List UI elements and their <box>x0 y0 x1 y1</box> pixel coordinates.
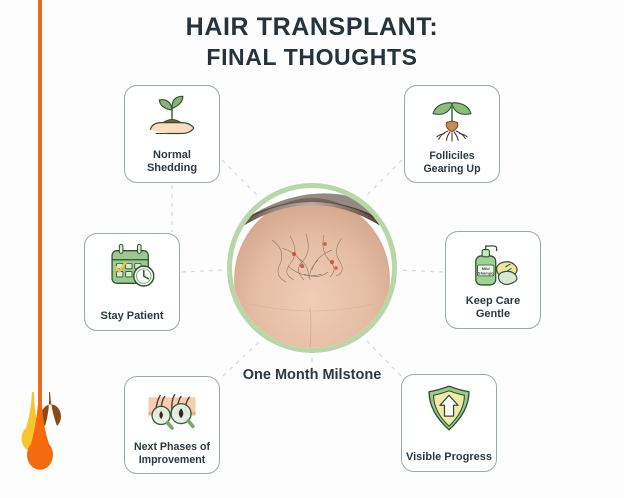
card-label: Folliciles Gearing Up <box>420 150 483 175</box>
hair-follicle-magnifier-icon <box>143 384 201 436</box>
card-label-line-2: Improvement <box>139 454 206 466</box>
card-normal-shedding[interactable]: Normal Shedding <box>124 85 220 183</box>
card-label: Stay Patient <box>98 310 167 323</box>
sprout-with-roots-icon <box>423 93 481 145</box>
scalp-illustration <box>232 188 392 348</box>
calendar-clock-icon <box>103 241 161 293</box>
card-label-line-1: Next Phases of <box>134 441 210 453</box>
card-label-line-2: Gearing Up <box>423 163 480 175</box>
card-next-phases-of-improvement[interactable]: Next Phases of Improvement <box>124 376 220 474</box>
card-label: Keep Care Gentle <box>446 295 540 321</box>
infographic-canvas: HAIR TRANSPLANT: FINAL THOUGHTS <box>0 0 624 498</box>
center-scalp-photo <box>227 183 397 353</box>
bottle-label-line-2: Shampo <box>478 271 494 276</box>
card-follicles-gearing-up[interactable]: Folliciles Gearing Up <box>404 85 500 183</box>
center-caption: One Month Milstone <box>0 367 624 383</box>
card-visible-progress[interactable]: Visible Progress <box>401 374 497 472</box>
card-label-line-1: Folliciles <box>429 150 474 162</box>
card-stay-patient[interactable]: Stay Patient <box>84 233 180 331</box>
card-label: Visible Progress <box>403 451 495 464</box>
card-label: Normal Shedding <box>125 149 219 175</box>
hand-holding-sprout-icon <box>143 93 201 145</box>
card-label: Next Phases of Improvement <box>131 441 213 466</box>
card-keep-care-gentle[interactable]: Mild Shampo Keep Care Gentle <box>445 231 541 329</box>
shield-up-arrow-icon <box>420 382 478 434</box>
shampoo-bottle-soap-icon: Mild Shampo <box>464 239 522 291</box>
